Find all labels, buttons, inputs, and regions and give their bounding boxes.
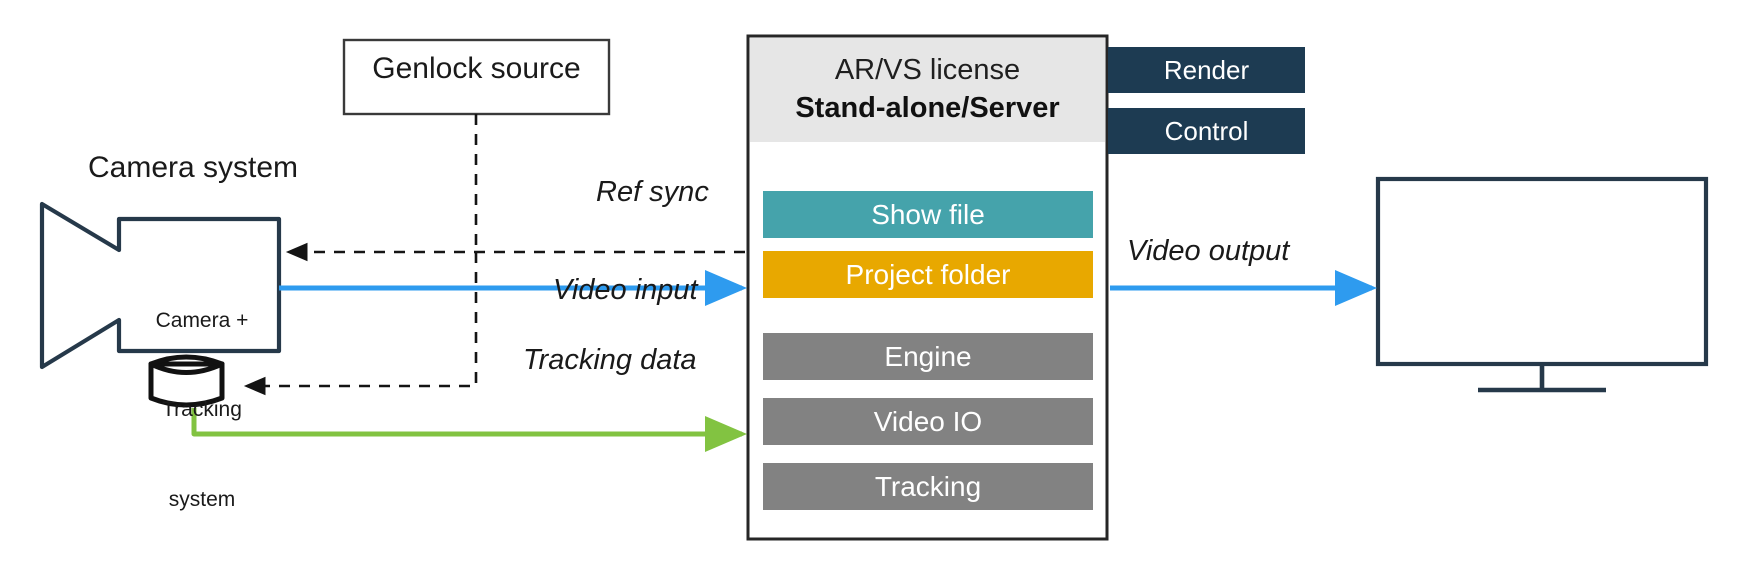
module-engine[interactable]: Engine [763, 333, 1093, 380]
module-tracking[interactable]: Tracking [763, 463, 1093, 510]
camera-body-label-line3: system [122, 485, 282, 515]
module-show-file[interactable]: Show file [763, 191, 1093, 238]
monitor-shape [1378, 179, 1706, 390]
connector-label-ref-sync: Ref sync [596, 176, 709, 209]
module-video-io[interactable]: Video IO [763, 398, 1093, 445]
connector-label-video-input: Video input [553, 274, 698, 307]
connector-label-video-output: Video output [1127, 235, 1289, 268]
camera-body-label: Camera + Tracking system [122, 246, 282, 574]
tab-render[interactable]: Render [1108, 47, 1305, 93]
diagram-canvas: Camera system Camera + Tracking system G… [0, 0, 1740, 574]
connector-label-tracking-data: Tracking data [523, 344, 697, 377]
camera-system-label: Camera system [88, 151, 298, 185]
tab-control[interactable]: Control [1108, 108, 1305, 154]
arvs-license-label: AR/VS license [750, 54, 1105, 87]
arvs-edition-label: Stand-alone/Server [750, 92, 1105, 125]
module-project-folder[interactable]: Project folder [763, 251, 1093, 298]
camera-body-label-line2: Tracking [122, 395, 282, 425]
genlock-source-label: Genlock source [344, 52, 609, 86]
camera-body-label-line1: Camera + [122, 306, 282, 336]
arvs-unit-header: AR/VS license Stand-alone/Server [750, 38, 1105, 142]
